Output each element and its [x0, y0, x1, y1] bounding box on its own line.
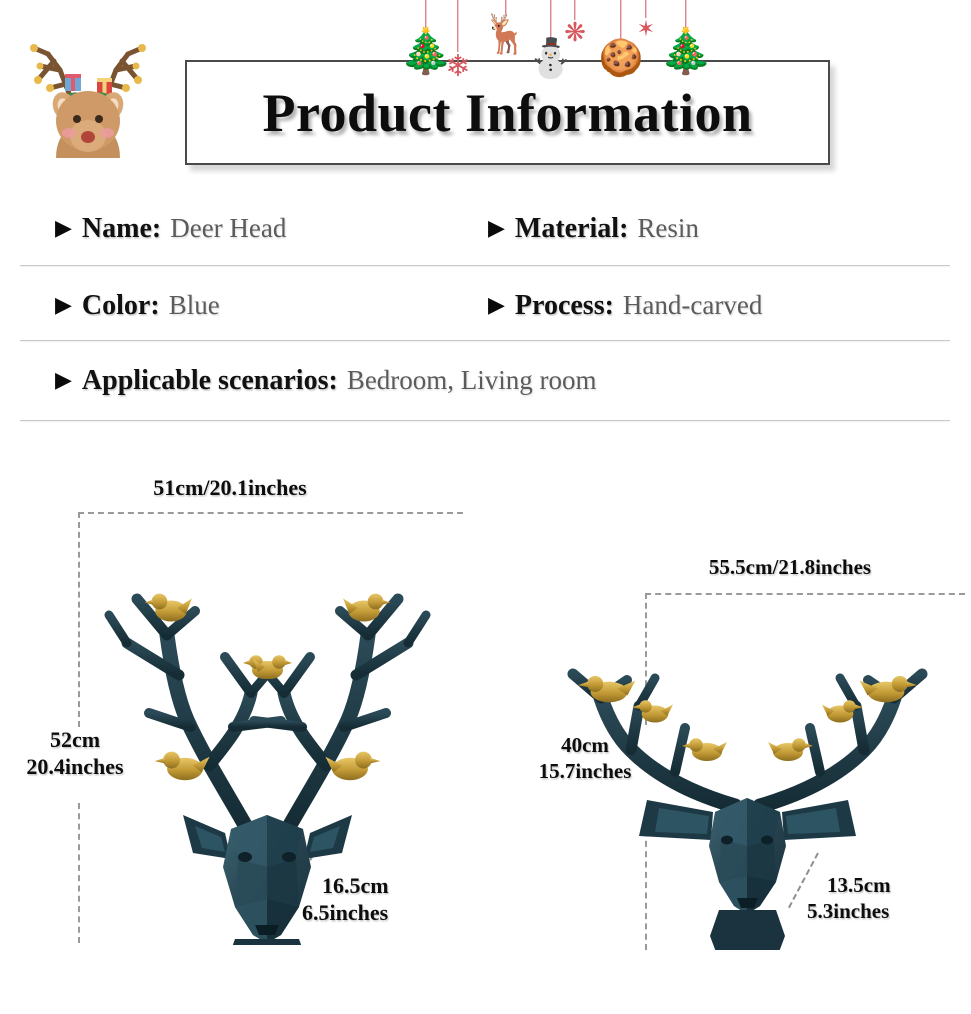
spec-divider [20, 420, 950, 421]
page-header: Product Information 🎄❄🦌⛄❋🍪✶🎄 [0, 0, 971, 200]
ornament-string [620, 0, 621, 40]
width-dimension-line-small [645, 593, 965, 595]
christmas-ball-ornament-icon-glyph: 🎄 [659, 30, 714, 74]
christmas-ball-ornament-icon: 🎄 [664, 0, 708, 74]
reindeer-ornament-icon-glyph: 🦌 [482, 16, 529, 54]
spec-value: Resin [637, 213, 699, 244]
product-specs-list: ▶Name:Deer Head▶Material:Resin▶Color:Blu… [0, 205, 971, 440]
arrow-right-icon: ▶ [488, 215, 505, 241]
spec-label: Material: [515, 213, 629, 245]
deer-head-statue-small-icon [535, 600, 960, 950]
spec-label: Applicable scenarios: [82, 365, 338, 397]
width-dimension-label-large: 51cm/20.1inches [0, 475, 460, 502]
poinsettia-ornament-icon-glyph: ❋ [564, 20, 586, 46]
arrow-right-icon: ▶ [55, 215, 72, 241]
spec-item-applicable-scenarios: ▶Applicable scenarios:Bedroom, Living ro… [55, 365, 597, 397]
product-panel-large: 51cm/20.1inches 52cm 20.4inches 16.5cm 6… [0, 455, 490, 1014]
spec-divider [20, 265, 950, 266]
snowflake-ornament-icon: ❄ [443, 0, 473, 82]
christmas-ornaments-decoration: 🎄❄🦌⛄❋🍪✶🎄 [0, 0, 971, 120]
spec-item-material: ▶Material:Resin [488, 213, 699, 245]
product-information-page: Product Information 🎄❄🦌⛄❋🍪✶🎄 ▶Name:Deer … [0, 0, 971, 1014]
gingerbread-man-ornament-icon-glyph: 🍪 [599, 40, 644, 76]
product-panel-small: 55.5cm/21.8inches 40cm 15.7inches 13.5cm… [490, 455, 971, 1014]
spec-value: Bedroom, Living room [347, 365, 597, 396]
star-ornament-icon-glyph: ✶ [637, 18, 655, 40]
width-dimension-label-small: 55.5cm/21.8inches [620, 555, 960, 581]
spec-item-name: ▶Name:Deer Head [55, 213, 286, 245]
gingerbread-man-ornament-icon: 🍪 [603, 0, 639, 76]
arrow-right-icon: ▶ [55, 367, 72, 393]
christmas-ball-ornament-icon: 🎄 [404, 0, 448, 74]
spec-label: Process: [515, 290, 614, 322]
arrow-right-icon: ▶ [488, 292, 505, 318]
spec-value: Deer Head [170, 213, 286, 244]
spec-divider [20, 340, 950, 341]
ornament-string [685, 0, 686, 30]
reindeer-ornament-icon: 🦌 [487, 0, 525, 54]
spec-item-process: ▶Process:Hand-carved [488, 290, 762, 322]
spec-value: Hand-carved [623, 290, 762, 321]
ornament-string [425, 0, 426, 30]
arrow-right-icon: ▶ [55, 292, 72, 318]
spec-label: Name: [82, 213, 161, 245]
snowflake-ornament-icon-glyph: ❄ [445, 52, 470, 82]
spec-value: Blue [169, 290, 220, 321]
spec-label: Color: [82, 290, 160, 322]
width-dimension-line-large [78, 512, 463, 514]
ornament-string [574, 0, 575, 20]
star-ornament-icon: ✶ [635, 0, 657, 40]
spec-item-color: ▶Color:Blue [55, 290, 220, 322]
ornament-string [550, 0, 551, 40]
poinsettia-ornament-icon: ❋ [562, 0, 588, 46]
deer-head-statue-large-icon [75, 515, 460, 945]
ornament-string [457, 0, 458, 52]
